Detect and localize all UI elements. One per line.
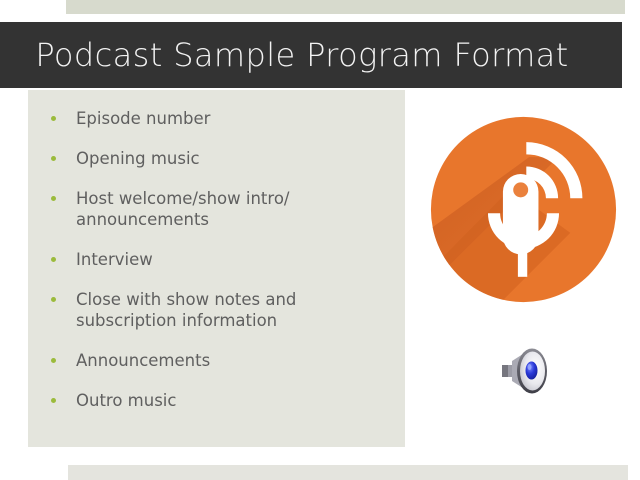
list-item: Interview [51,249,395,270]
podcast-microphone-icon [430,116,617,303]
bullet-dot-icon [51,116,56,121]
list-item-label: Close with show notes and subscription i… [76,290,296,330]
bullet-dot-icon [51,196,56,201]
bullet-dot-icon [51,398,56,403]
decorative-band-top [66,0,625,14]
list-item: Opening music [51,148,395,169]
bullet-dot-icon [51,297,56,302]
list-item: Outro music [51,390,395,411]
list-item-label: Outro music [76,391,176,410]
list-item: Close with show notes and subscription i… [51,289,395,331]
list-item: Host welcome/show intro/ announcements [51,188,395,230]
list-item: Episode number [51,108,395,129]
slide-canvas: Podcast Sample Program Format Episode nu… [0,0,640,480]
list-item-label: Announcements [76,351,210,370]
speaker-audio-icon [499,346,553,394]
program-format-list: Episode number Opening music Host welcom… [51,108,395,411]
title-bar: Podcast Sample Program Format [0,22,622,88]
list-item-label: Interview [76,250,153,269]
list-item: Announcements [51,350,395,371]
bullet-dot-icon [51,156,56,161]
decorative-band-bottom [68,465,628,480]
page-title: Podcast Sample Program Format [0,36,604,74]
list-item-label: Opening music [76,149,200,168]
bullet-dot-icon [51,257,56,262]
content-panel: Episode number Opening music Host welcom… [28,90,405,447]
list-item-label: Episode number [76,109,210,128]
list-item-label: Host welcome/show intro/ announcements [76,189,289,229]
bullet-dot-icon [51,358,56,363]
